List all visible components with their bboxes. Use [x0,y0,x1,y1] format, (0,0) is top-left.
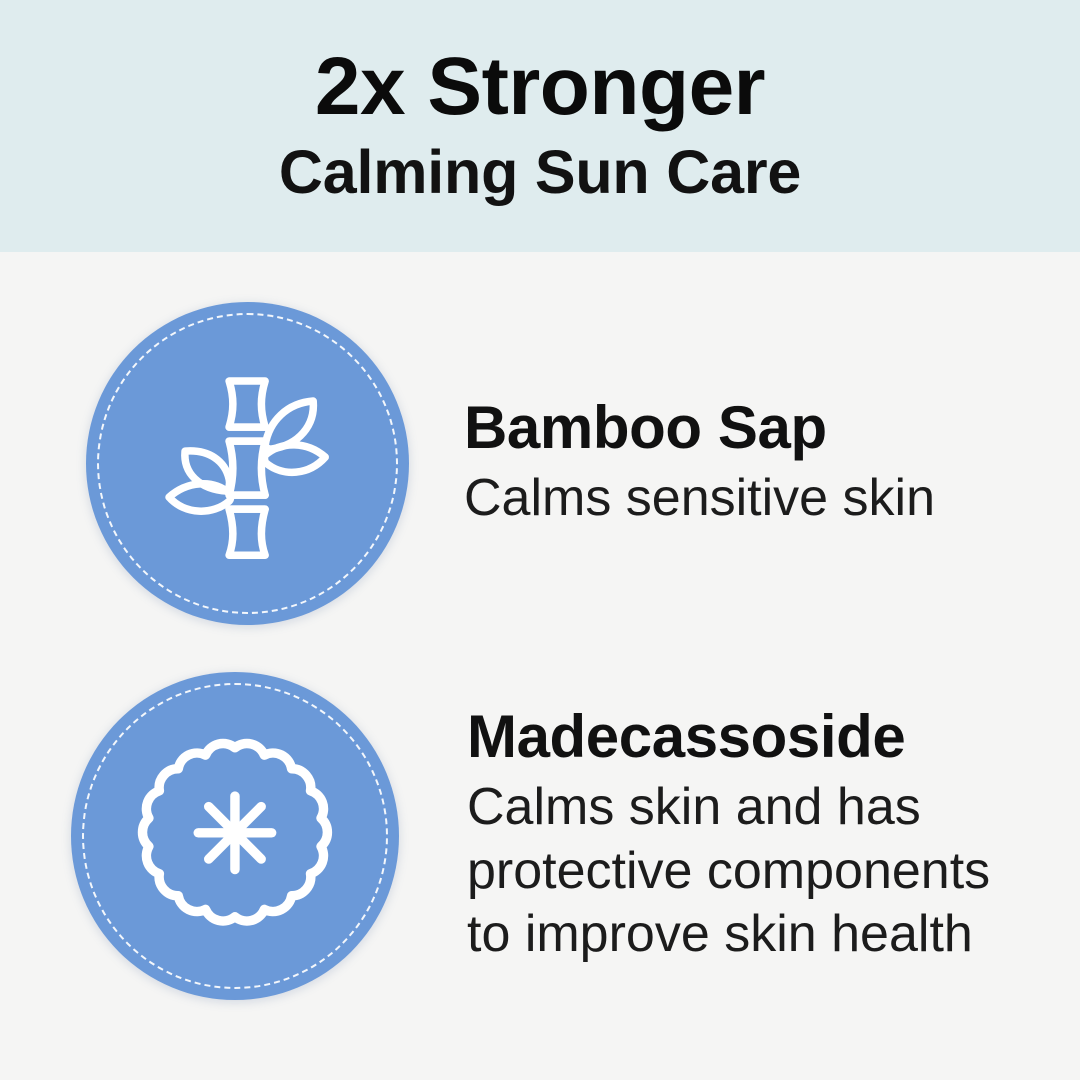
list-item: Madecassoside Calms skin and has protect… [0,672,1080,1000]
ingredient-name: Madecassoside [467,705,1040,768]
header-banner: 2x Stronger Calming Sun Care [0,0,1080,252]
flower-asterisk-icon [130,731,340,941]
ingredient-badge [86,302,409,625]
page-title: 2x Stronger [315,48,765,126]
ingredient-text: Bamboo Sap Calms sensitive skin [409,396,1080,530]
bamboo-stalk-icon [147,363,347,563]
ingredient-name: Bamboo Sap [464,396,1040,459]
list-item: Bamboo Sap Calms sensitive skin [0,302,1080,625]
ingredient-list: Bamboo Sap Calms sensitive skin [0,252,1080,1080]
ingredient-badge [71,672,399,1000]
ingredient-description: Calms skin and has protective components… [467,776,1040,966]
page-subtitle: Calming Sun Care [279,140,801,204]
ingredient-text: Madecassoside Calms skin and has protect… [399,705,1080,966]
product-benefits-infographic: 2x Stronger Calming Sun Care [0,0,1080,1080]
ingredient-description: Calms sensitive skin [464,467,1040,530]
